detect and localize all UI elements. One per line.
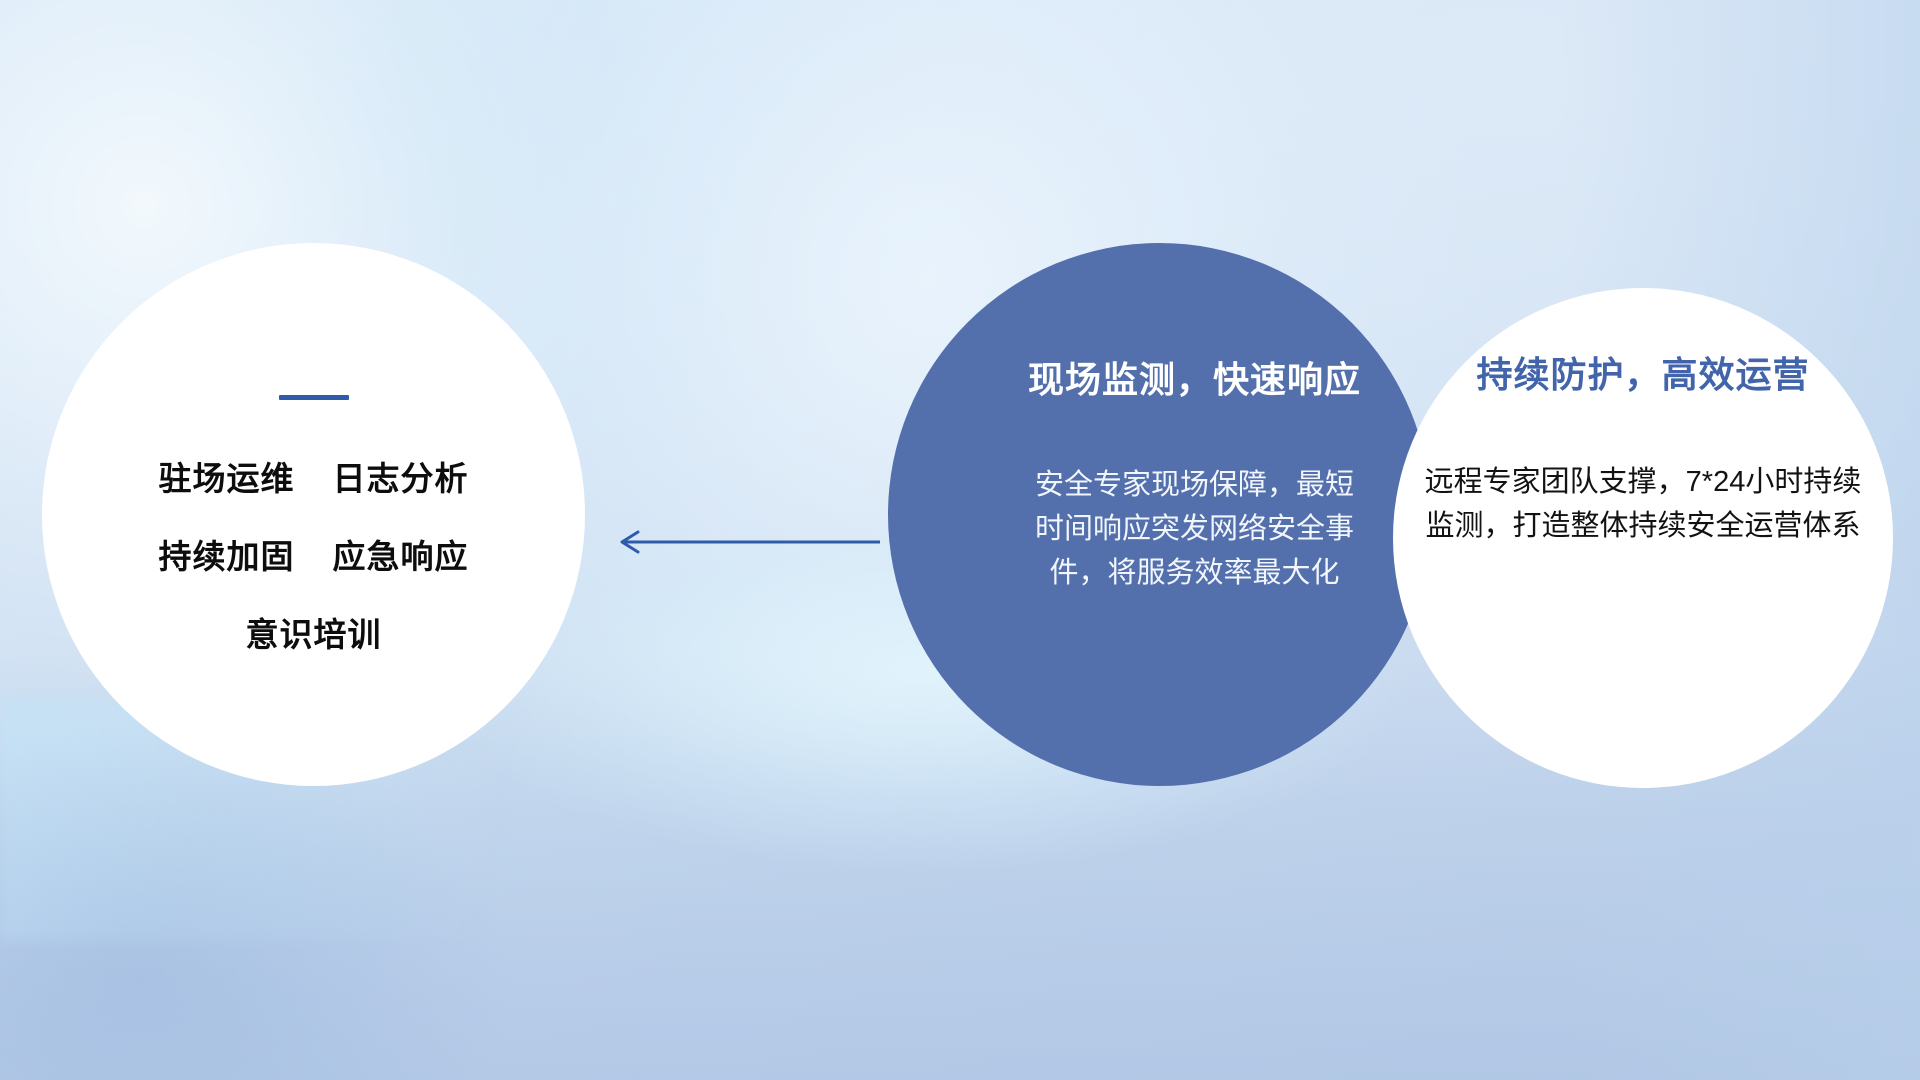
right-circle-body: 远程专家团队支撑，7*24小时持续监测，打造整体持续安全运营体系 [1423,460,1863,548]
service-tag-list: 驻场运维 日志分析 持续加固 应急响应 意识培训 [159,452,469,656]
mid-circle-title: 现场监测，快速响应 [1028,351,1361,403]
right-circle-title: 持续防护，高效运营 [1476,346,1809,398]
slide-canvas: 驻场运维 日志分析 持续加固 应急响应 意识培训 现场监测，快速响应 安全专家现… [0,0,1920,1080]
right-circle-content: 持续防护，高效运营 远程专家团队支撑，7*24小时持续监测，打造整体持续安全运营… [1393,288,1893,788]
tag-item[interactable]: 应急响应 [333,530,469,578]
tag-item[interactable]: 意识培训 [246,608,382,656]
tag-row: 意识培训 [246,608,382,656]
left-circle-content: 驻场运维 日志分析 持续加固 应急响应 意识培训 [42,243,585,786]
tag-item[interactable]: 驻场运维 [159,452,295,500]
mid-circle-body: 安全专家现场保障，最短时间响应突发网络安全事件，将服务效率最大化 [1030,463,1360,595]
divider-dash [279,395,349,400]
tag-item[interactable]: 日志分析 [333,452,469,500]
tag-row: 持续加固 应急响应 [159,530,469,578]
mid-circle-content: 现场监测，快速响应 安全专家现场保障，最短时间响应突发网络安全事件，将服务效率最… [888,243,1431,786]
tag-row: 驻场运维 日志分析 [159,452,469,500]
tag-item[interactable]: 持续加固 [159,530,295,578]
connector-arrow [608,528,880,556]
